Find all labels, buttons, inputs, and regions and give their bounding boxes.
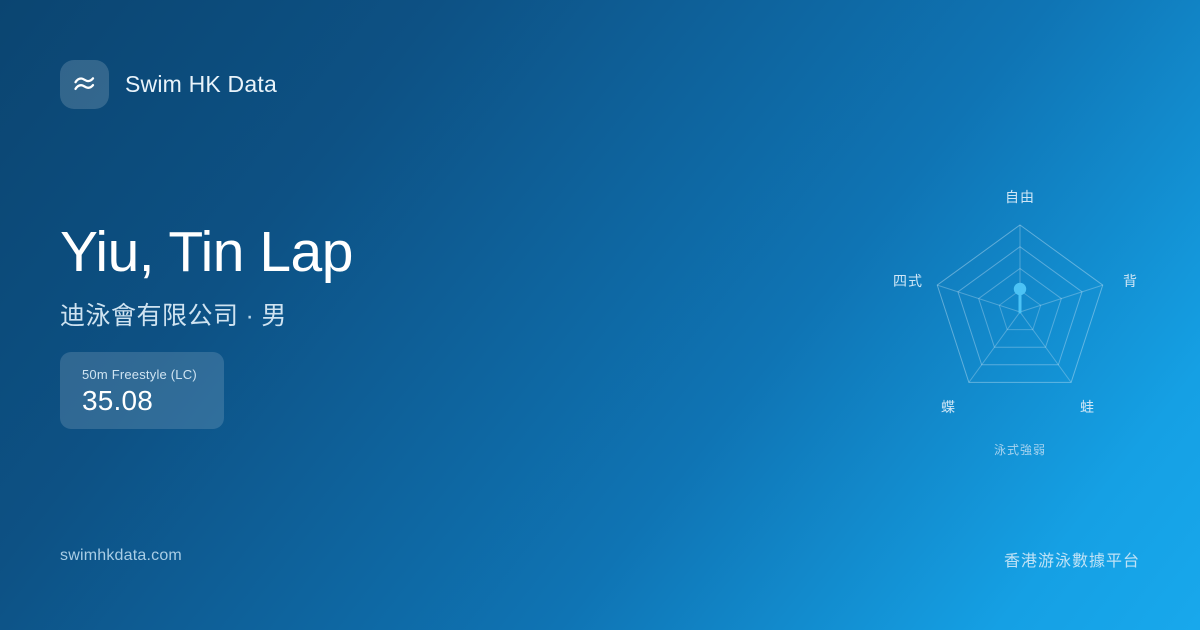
radar-axis-label-butterfly: 蝶	[941, 397, 956, 417]
footer-site-url: swimhkdata.com	[60, 547, 182, 565]
radar-axis-label-freestyle: 自由	[875, 187, 1165, 207]
radar-grid	[875, 175, 1165, 470]
meta-separator: ·	[239, 302, 262, 330]
brand-name: Swim HK Data	[125, 71, 277, 98]
athlete-meta: 迪泳會有限公司·男	[60, 296, 353, 332]
radar-axis-label-backstroke: 背	[1123, 271, 1138, 291]
radar-axis-label-breaststroke: 蛙	[1080, 397, 1095, 417]
wave-approx-icon	[60, 60, 109, 109]
radar-axis-label-medley: 四式	[893, 271, 923, 291]
event-label: 50m Freestyle (LC)	[82, 367, 224, 382]
brand-header: Swim HK Data	[60, 60, 277, 109]
club-name: 迪泳會有限公司	[60, 302, 239, 330]
stroke-strength-radar-chart: 自由 背 蛙 蝶 四式 泳式強弱	[875, 175, 1165, 470]
radar-data-point-freestyle	[1014, 283, 1026, 295]
footer-tagline: 香港游泳數據平台	[1004, 547, 1140, 571]
gender-label: 男	[261, 302, 287, 330]
best-time-card: 50m Freestyle (LC) 35.08	[60, 352, 224, 429]
time-value: 35.08	[82, 385, 224, 417]
page-title: Yiu, Tin Lap	[60, 222, 353, 284]
share-card: Swim HK Data Yiu, Tin Lap 迪泳會有限公司·男 50m …	[0, 0, 1200, 630]
radar-caption: 泳式強弱	[875, 441, 1165, 458]
hero-block: Yiu, Tin Lap 迪泳會有限公司·男	[60, 222, 353, 332]
